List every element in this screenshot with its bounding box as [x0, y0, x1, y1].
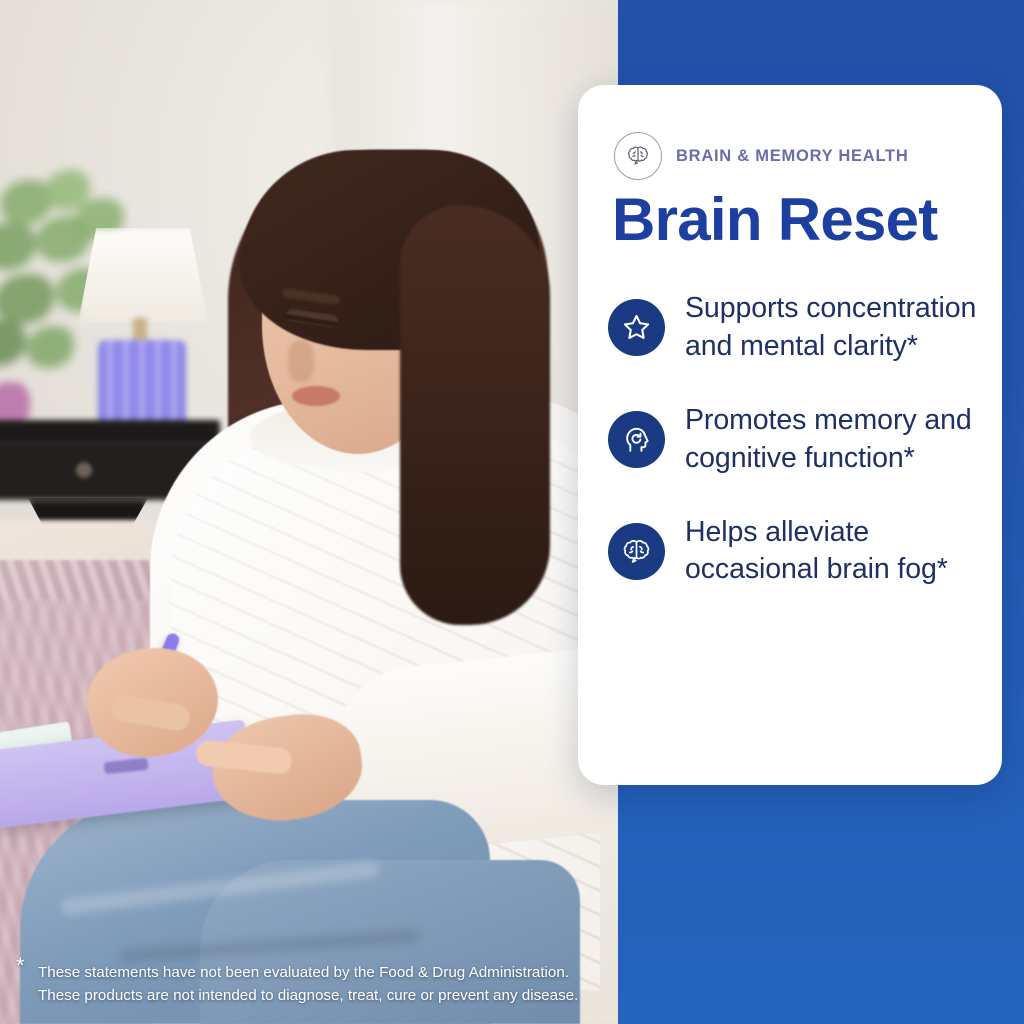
- disclaimer-line-1: These statements have not been evaluated…: [38, 961, 616, 985]
- benefit-text: Promotes memory and cognitive function*: [685, 402, 978, 478]
- advertisement-canvas: BRAIN & MEMORY HEALTH Brain Reset Suppor…: [0, 0, 1024, 1024]
- lips: [292, 386, 340, 406]
- drawer-knob: [76, 462, 92, 478]
- benefit-item: Helps alleviate occasional brain fog*: [608, 514, 978, 590]
- hair-side: [400, 205, 550, 625]
- benefit-list: Supports concentration and mental clarit…: [608, 290, 978, 589]
- nose: [288, 340, 314, 382]
- disclaimer-asterisk: *: [16, 955, 25, 977]
- benefit-item: Promotes memory and cognitive function*: [608, 402, 978, 478]
- head-refresh-icon: [608, 411, 665, 468]
- star-icon: [608, 299, 665, 356]
- benefit-text: Helps alleviate occasional brain fog*: [685, 514, 978, 590]
- lifestyle-photo: [0, 0, 640, 1024]
- benefit-text: Supports concentration and mental clarit…: [685, 290, 978, 366]
- category-label: BRAIN & MEMORY HEALTH: [676, 147, 909, 166]
- disclaimer-line-2: These products are not intended to diagn…: [38, 984, 616, 1008]
- disclaimer: * These statements have not been evaluat…: [16, 961, 616, 1008]
- product-info-card: BRAIN & MEMORY HEALTH Brain Reset Suppor…: [578, 85, 1002, 785]
- benefit-item: Supports concentration and mental clarit…: [608, 290, 978, 366]
- brain-icon: [614, 132, 662, 180]
- lamp-shade: [78, 228, 208, 323]
- brain-icon: [608, 523, 665, 580]
- category-badge: BRAIN & MEMORY HEALTH: [614, 132, 909, 180]
- page-title: Brain Reset: [612, 190, 938, 250]
